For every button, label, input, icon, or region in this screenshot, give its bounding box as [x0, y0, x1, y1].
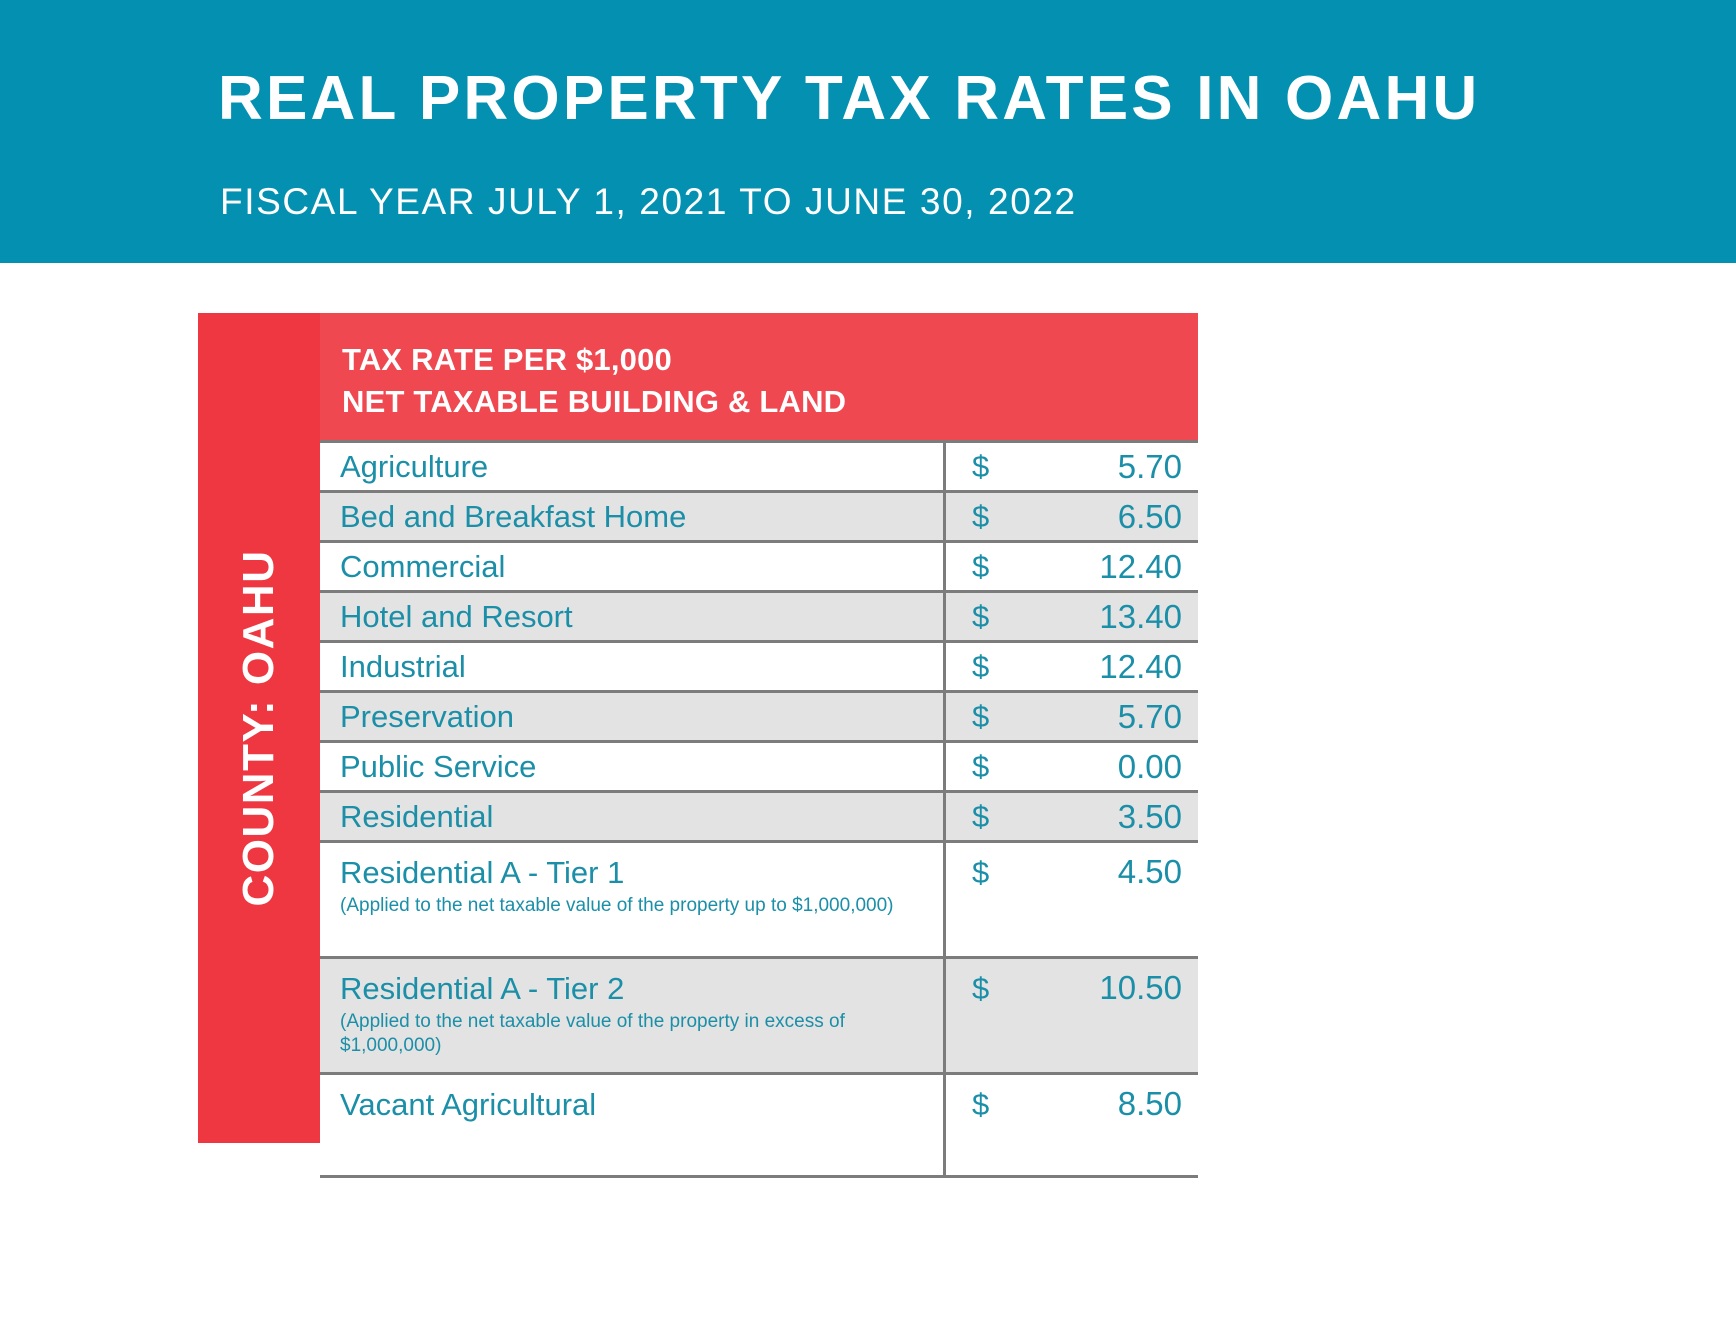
currency-symbol: $	[972, 648, 989, 686]
page-subtitle: FISCAL YEAR JULY 1, 2021 TO JUNE 30, 202…	[220, 183, 1077, 220]
table-row: Preservation $ 5.70	[320, 693, 1198, 743]
row-value-cell: $ 12.40	[946, 543, 1198, 590]
row-value-cell: $ 13.40	[946, 593, 1198, 640]
row-value-cell: $ 3.50	[946, 793, 1198, 840]
table-row: Residential A - Tier 2 (Applied to the n…	[320, 959, 1198, 1075]
row-label: Hotel and Resort	[340, 598, 929, 636]
table-header: TAX RATE PER $1,000 NET TAXABLE BUILDING…	[320, 313, 1198, 440]
row-label: Industrial	[340, 648, 929, 686]
row-label-cell: Residential	[320, 793, 946, 840]
row-amount: 4.50	[1118, 853, 1182, 891]
page-banner: REAL PROPERTY TAX RATES IN OAHU FISCAL Y…	[0, 0, 1736, 263]
row-amount: 0.00	[1118, 748, 1182, 786]
currency-symbol: $	[972, 854, 989, 892]
row-label: Residential A - Tier 2	[340, 970, 929, 1008]
county-column: COUNTY: OAHU	[198, 313, 320, 1143]
table-row: Bed and Breakfast Home $ 6.50	[320, 493, 1198, 543]
row-label-cell: Vacant Agricultural	[320, 1075, 946, 1175]
row-value-cell: $ 5.70	[946, 693, 1198, 740]
row-label: Preservation	[340, 698, 929, 736]
row-label-cell: Residential A - Tier 2 (Applied to the n…	[320, 959, 946, 1072]
row-value-cell: $ 0.00	[946, 743, 1198, 790]
table-row: Hotel and Resort $ 13.40	[320, 593, 1198, 643]
currency-symbol: $	[972, 698, 989, 736]
currency-symbol: $	[972, 548, 989, 586]
row-value-cell: $ 5.70	[946, 443, 1198, 490]
row-label: Agriculture	[340, 448, 929, 486]
tax-rate-table: COUNTY: OAHU TAX RATE PER $1,000 NET TAX…	[198, 313, 1198, 1143]
row-label: Commercial	[340, 548, 929, 586]
row-label-cell: Industrial	[320, 643, 946, 690]
table-row: Agriculture $ 5.70	[320, 443, 1198, 493]
table-row: Public Service $ 0.00	[320, 743, 1198, 793]
currency-symbol: $	[972, 1086, 989, 1124]
currency-symbol: $	[972, 498, 989, 536]
row-label-cell: Public Service	[320, 743, 946, 790]
row-label-cell: Commercial	[320, 543, 946, 590]
table-row: Residential A - Tier 1 (Applied to the n…	[320, 843, 1198, 959]
row-label: Residential A - Tier 1	[340, 854, 929, 892]
table-header-line-1: TAX RATE PER $1,000	[342, 339, 1198, 381]
table-row: Vacant Agricultural $ 8.50	[320, 1075, 1198, 1178]
row-amount: 3.50	[1118, 798, 1182, 836]
row-amount: 12.40	[1099, 648, 1182, 686]
row-value-cell: $ 4.50	[946, 843, 1198, 956]
table-body: TAX RATE PER $1,000 NET TAXABLE BUILDING…	[320, 313, 1198, 1143]
row-amount: 8.50	[1118, 1085, 1182, 1123]
table-row: Residential $ 3.50	[320, 793, 1198, 843]
row-label-cell: Residential A - Tier 1 (Applied to the n…	[320, 843, 946, 956]
row-amount: 5.70	[1118, 448, 1182, 486]
row-label-cell: Hotel and Resort	[320, 593, 946, 640]
row-value-cell: $ 8.50	[946, 1075, 1198, 1175]
row-value-cell: $ 10.50	[946, 959, 1198, 1072]
currency-symbol: $	[972, 448, 989, 486]
currency-symbol: $	[972, 970, 989, 1008]
table-row: Industrial $ 12.40	[320, 643, 1198, 693]
row-label: Vacant Agricultural	[340, 1086, 929, 1124]
row-label: Residential	[340, 798, 929, 836]
row-amount: 13.40	[1099, 598, 1182, 636]
currency-symbol: $	[972, 748, 989, 786]
row-note: (Applied to the net taxable value of the…	[340, 894, 929, 918]
row-value-cell: $ 6.50	[946, 493, 1198, 540]
page-title: REAL PROPERTY TAX RATES IN OAHU	[218, 68, 1480, 130]
currency-symbol: $	[972, 598, 989, 636]
table-header-line-2: NET TAXABLE BUILDING & LAND	[342, 381, 1198, 423]
row-amount: 12.40	[1099, 548, 1182, 586]
row-label: Public Service	[340, 748, 929, 786]
row-amount: 10.50	[1099, 969, 1182, 1007]
row-note: (Applied to the net taxable value of the…	[340, 1010, 929, 1058]
currency-symbol: $	[972, 798, 989, 836]
row-label-cell: Preservation	[320, 693, 946, 740]
row-amount: 5.70	[1118, 698, 1182, 736]
row-label: Bed and Breakfast Home	[340, 498, 929, 536]
row-value-cell: $ 12.40	[946, 643, 1198, 690]
row-label-cell: Agriculture	[320, 443, 946, 490]
county-label: COUNTY: OAHU	[234, 550, 284, 907]
row-amount: 6.50	[1118, 498, 1182, 536]
table-row: Commercial $ 12.40	[320, 543, 1198, 593]
row-label-cell: Bed and Breakfast Home	[320, 493, 946, 540]
table-rows: Agriculture $ 5.70 Bed and Breakfast Hom…	[320, 440, 1198, 1178]
